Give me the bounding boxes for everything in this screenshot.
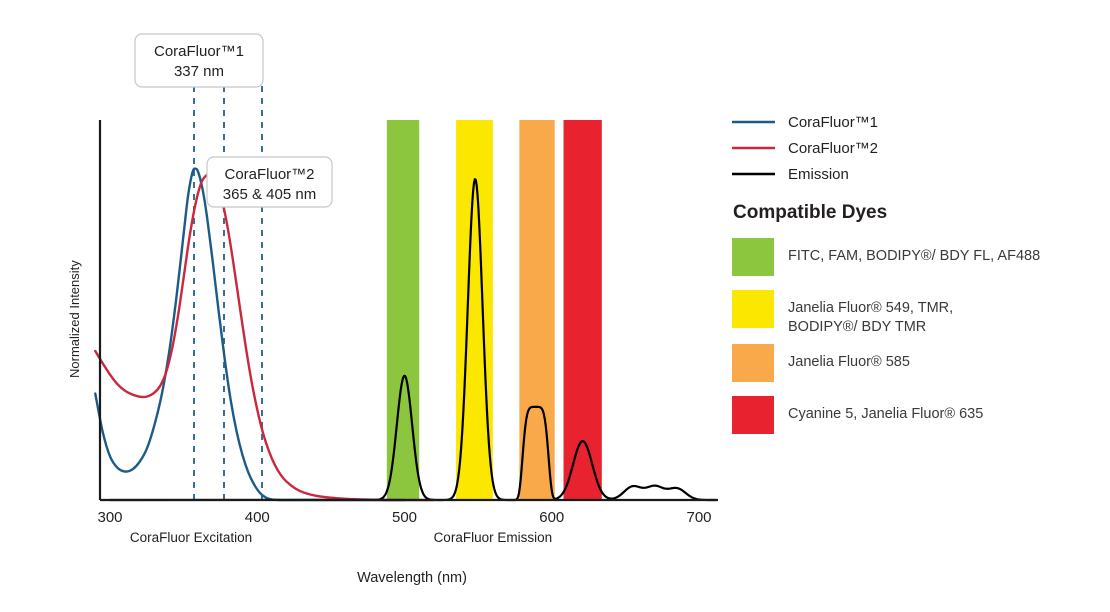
legend-label-1: CoraFluor™2 [788, 140, 878, 157]
red-band [564, 120, 602, 500]
curve-series-0 [95, 169, 404, 500]
x-tick-500: 500 [392, 509, 417, 526]
corafluor1-callout-line1: CoraFluor™1 [154, 43, 244, 60]
x-tick-300: 300 [97, 509, 122, 526]
corafluor2-callout: CoraFluor™2365 & 405 nm [207, 157, 332, 207]
dye-entry-0: FITC, FAM, BODIPY®/ BDY FL, AF488 [732, 238, 1040, 276]
dye-entry-1: Janelia Fluor® 549, TMR,BODIPY®/ BDY TMR [732, 290, 953, 335]
dye-label-1-0: Janelia Fluor® 549, TMR, [788, 300, 953, 316]
corafluor2-callout-line1: CoraFluor™2 [224, 166, 314, 183]
callout-group: CoraFluor™1337 nmCoraFluor™2365 & 405 nm [135, 34, 332, 207]
corafluor1-callout-line2: 337 nm [174, 63, 224, 80]
corafluor1-callout: CoraFluor™1337 nm [135, 34, 263, 87]
dye-swatch-1 [732, 290, 774, 328]
dye-swatch-3 [732, 396, 774, 434]
dye-label-1-1: BODIPY®/ BDY TMR [788, 319, 926, 335]
compatible-dyes-heading: Compatible Dyes [733, 202, 887, 223]
region-label-1: CoraFluor Emission [434, 530, 553, 545]
x-axis-tick-labels: 300400500600700 [97, 509, 711, 526]
excitation-guide-lines [194, 86, 262, 500]
legend-label-0: CoraFluor™1 [788, 114, 878, 131]
x-axis-region-labels: CoraFluor ExcitationCoraFluor Emission [130, 530, 552, 545]
x-axis-label: Wavelength (nm) [357, 570, 467, 586]
dye-entry-2: Janelia Fluor® 585 [732, 344, 910, 382]
y-axis-label: Normalized Intensity [67, 260, 82, 378]
x-tick-700: 700 [686, 509, 711, 526]
compatible-dyes-list: FITC, FAM, BODIPY®/ BDY FL, AF488Janelia… [732, 238, 1040, 434]
dye-swatch-0 [732, 238, 774, 276]
dye-label-2-0: Janelia Fluor® 585 [788, 354, 910, 370]
emission-band-group [387, 120, 602, 500]
series-legend: CoraFluor™1CoraFluor™2Emission [732, 114, 878, 183]
dye-entry-3: Cyanine 5, Janelia Fluor® 635 [732, 396, 983, 434]
region-label-0: CoraFluor Excitation [130, 530, 252, 545]
fluorescence-spectra-figure: 300400500600700 CoraFluor ExcitationCora… [0, 0, 1110, 612]
dye-label-0-0: FITC, FAM, BODIPY®/ BDY FL, AF488 [788, 248, 1040, 264]
corafluor2-callout-line2: 365 & 405 nm [223, 186, 316, 203]
legend-item-2: Emission [732, 166, 849, 183]
legend-item-0: CoraFluor™1 [732, 114, 878, 131]
x-tick-400: 400 [245, 509, 270, 526]
dye-label-3-0: Cyanine 5, Janelia Fluor® 635 [788, 406, 983, 422]
legend-item-1: CoraFluor™2 [732, 140, 878, 157]
legend-label-2: Emission [788, 166, 849, 183]
dye-swatch-2 [732, 344, 774, 382]
x-tick-600: 600 [539, 509, 564, 526]
